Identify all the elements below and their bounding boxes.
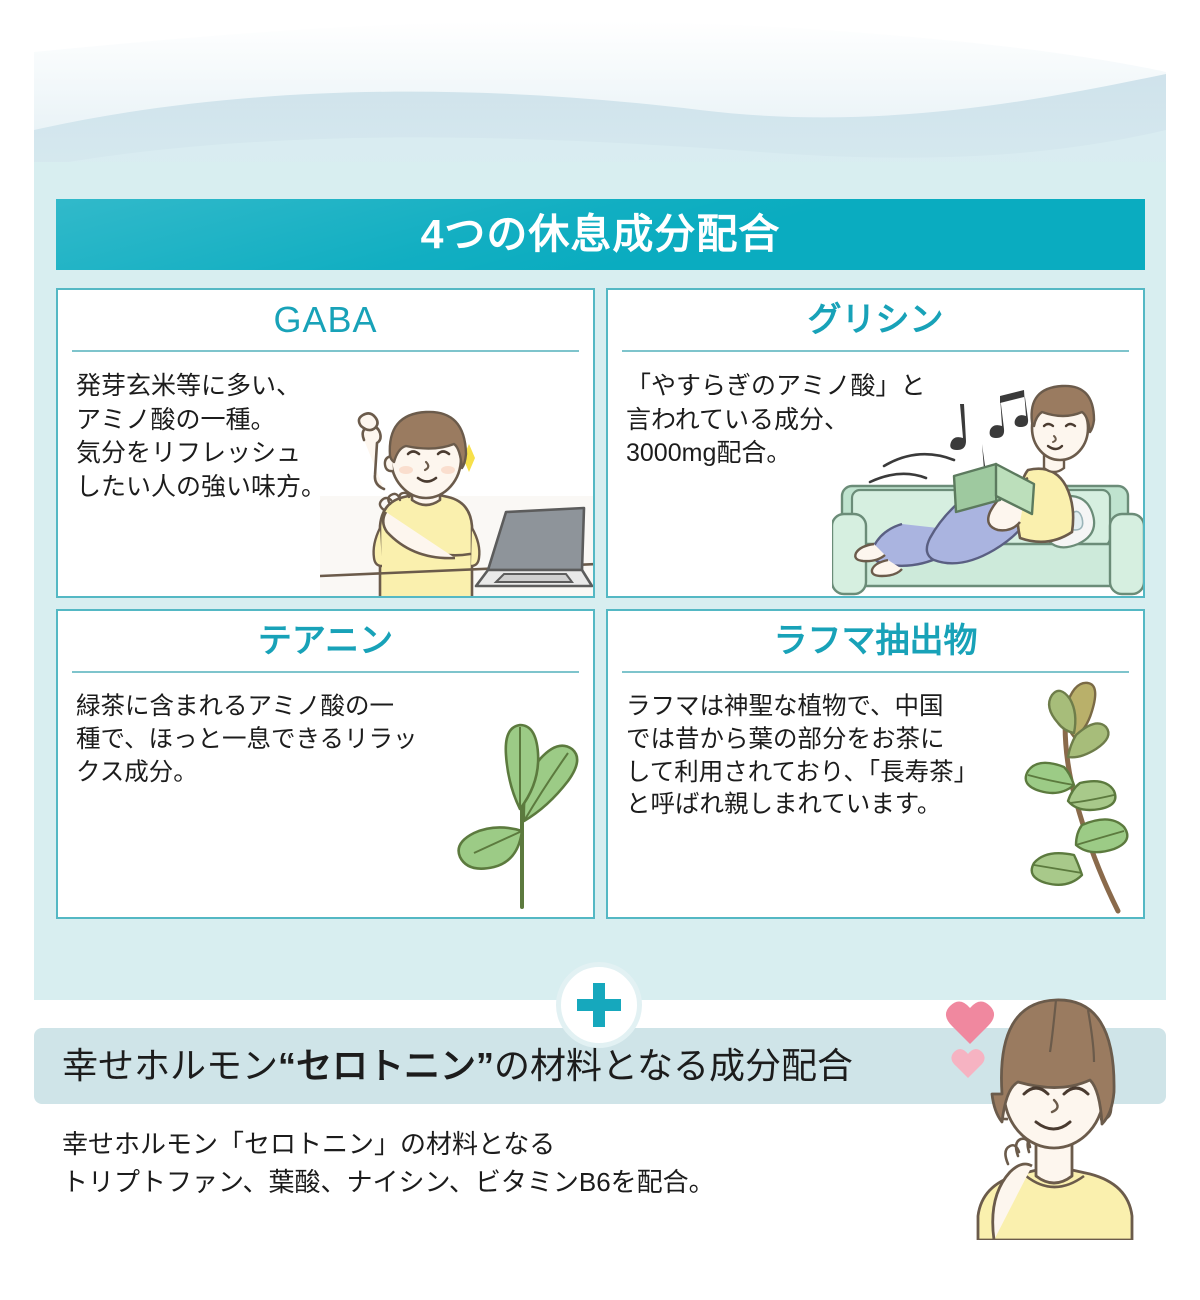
plus-icon — [573, 979, 625, 1031]
card-text-theanine: 緑茶に含まれるアミノ酸の一 種で、ほっと一息できるリラッ クス成分。 — [76, 691, 418, 789]
card-title-gaba: GABA — [58, 290, 593, 350]
ingredient-card-theanine: テアニン 緑茶に含まれるアミノ酸の一 種で、ほっと一息できるリラッ クス成分。 — [56, 609, 595, 919]
card-title-glycine: グリシン — [608, 290, 1143, 350]
card-body-glycine: 「やすらぎのアミノ酸」と 言われている成分、 3000mg配合。 — [608, 352, 1143, 596]
card-body-luobuma: ラフマは神聖な植物で、中国 では昔から葉の部分をお茶に して利用されており、「長… — [608, 673, 1143, 917]
woman-stretching-at-laptop-illustration — [320, 404, 595, 598]
ingredient-card-grid: GABA 発芽玄米等に多い、 アミノ酸の一種。 気分をリフレッシュ したい人の強… — [56, 288, 1145, 929]
card-text-luobuma: ラフマは神聖な植物で、中国 では昔から葉の部分をお茶に して利用されており、「長… — [626, 691, 978, 822]
infographic-page: 4つの休息成分配合 GABA 発芽玄米等に多い、 アミノ酸の一種。 気分をリフレ… — [0, 0, 1200, 1300]
card-body-theanine: 緑茶に含まれるアミノ酸の一 種で、ほっと一息できるリラッ クス成分。 — [58, 673, 593, 917]
banner-title: 4つの休息成分配合 — [421, 214, 781, 255]
card-title-luobuma: ラフマ抽出物 — [608, 611, 1143, 671]
serotonin-title-emphasis: “セロトニン” — [278, 1045, 494, 1086]
serotonin-banner-title: 幸せホルモン“セロトニン”の材料となる成分配合 — [62, 1048, 853, 1084]
card-text-gaba: 発芽玄米等に多い、 アミノ酸の一種。 気分をリフレッシュ したい人の強い味方。 — [76, 370, 326, 504]
ingredient-card-glycine: グリシン 「やすらぎのアミノ酸」と 言われている成分、 3000mg配合。 — [606, 288, 1145, 598]
main-banner: 4つの休息成分配合 — [56, 199, 1145, 270]
card-title-theanine: テアニン — [58, 611, 593, 671]
luobuma-sprig-illustration — [1006, 679, 1145, 917]
ingredient-card-luobuma: ラフマ抽出物 ラフマは神聖な植物で、中国 では昔から葉の部分をお茶に して利用さ… — [606, 609, 1145, 919]
card-body-gaba: 発芽玄米等に多い、 アミノ酸の一種。 気分をリフレッシュ したい人の強い味方。 — [58, 352, 593, 596]
plus-badge — [556, 962, 642, 1048]
serotonin-description: 幸せホルモン「セロトニン」の材料となる トリプトファン、葉酸、ナイシン、ビタミン… — [62, 1126, 715, 1201]
card-text-glycine: 「やすらぎのアミノ酸」と 言われている成分、 3000mg配合。 — [626, 370, 926, 471]
smiling-woman-with-hearts-illustration — [930, 988, 1196, 1240]
green-tea-leaf-illustration — [450, 681, 595, 913]
ingredient-card-gaba: GABA 発芽玄米等に多い、 アミノ酸の一種。 気分をリフレッシュ したい人の強… — [56, 288, 595, 598]
serotonin-title-suffix: の材料となる成分配合 — [494, 1045, 853, 1086]
serotonin-title-prefix: 幸せホルモン — [62, 1045, 278, 1086]
